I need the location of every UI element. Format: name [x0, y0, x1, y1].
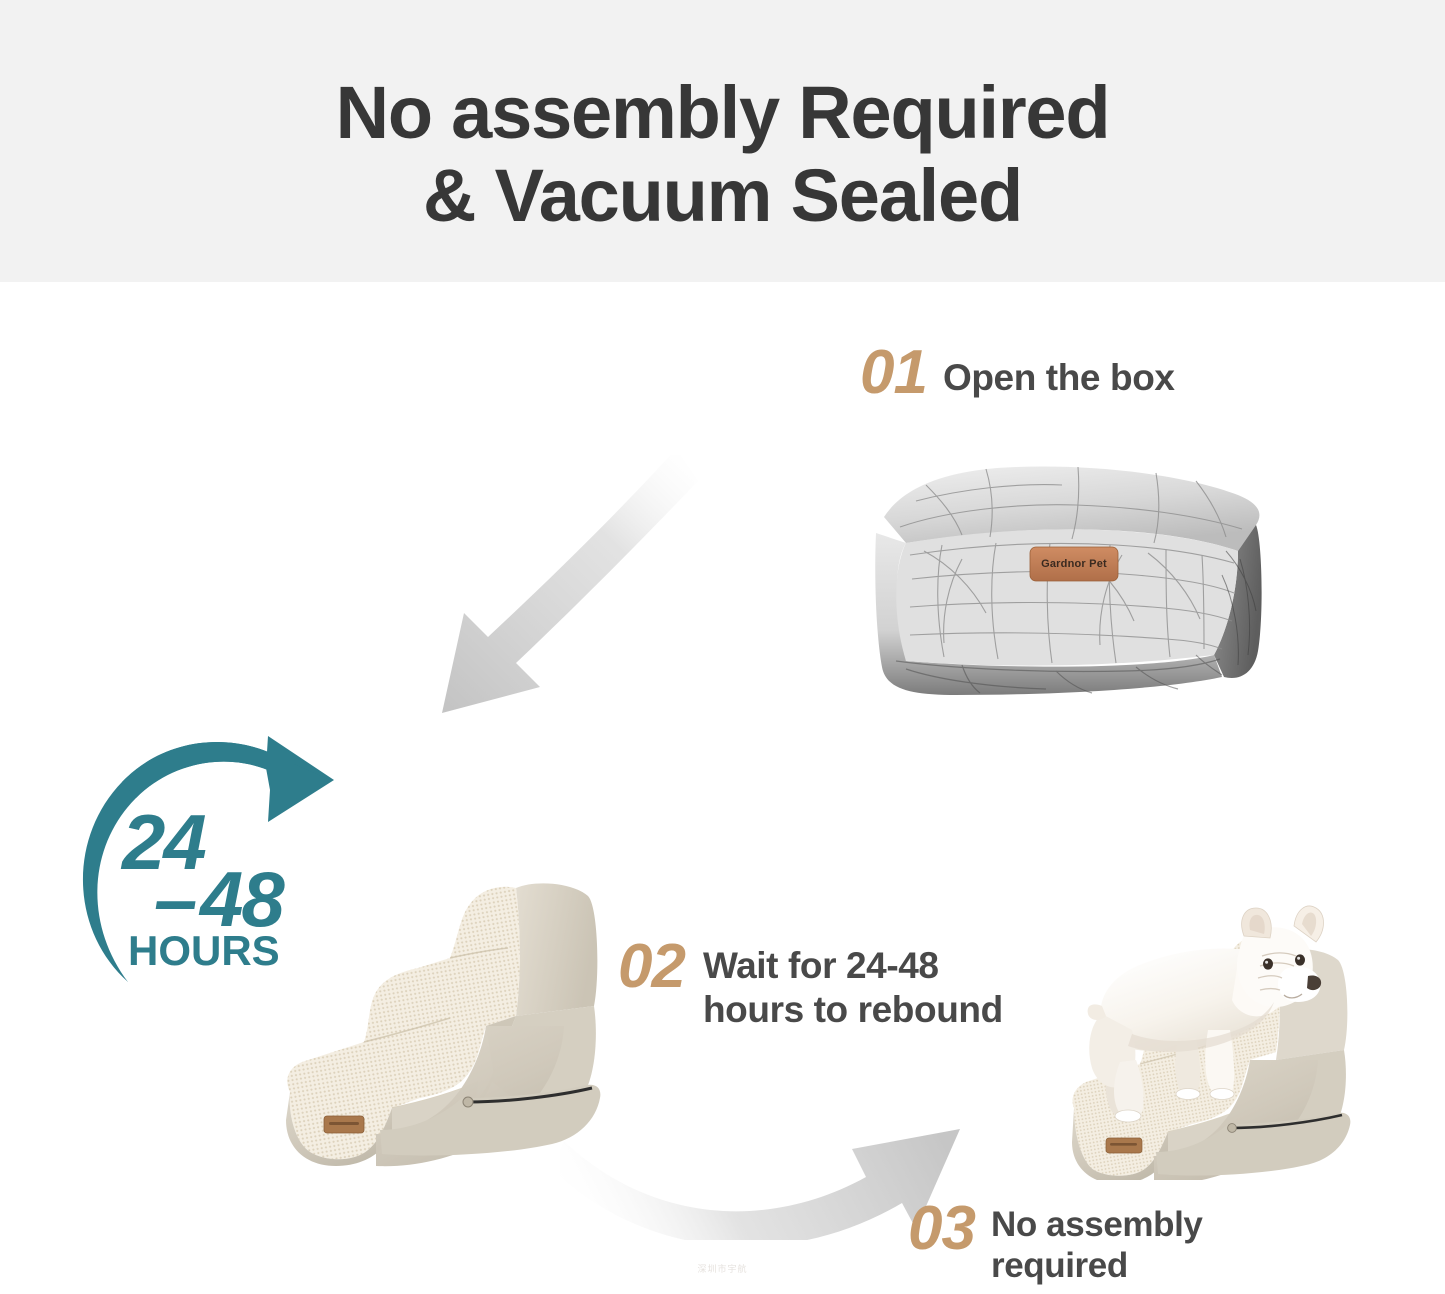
vacuum-sealed-package: Gardnor Pet [866, 455, 1276, 700]
dog-on-stairs-illustration [1062, 902, 1445, 1180]
pet-stairs-illustration [272, 866, 642, 1178]
watermark-text: 深圳市宇航 [0, 1262, 1445, 1275]
step-01-label: 01 Open the box [860, 342, 1175, 404]
package-brand-tag-text: Gardnor Pet [1034, 558, 1114, 570]
pet-stairs-expanded [272, 866, 642, 1178]
step-02-label: 02 Wait for 24-48 hours to rebound [618, 936, 1003, 1031]
product-brand-tag-small [1106, 1138, 1142, 1153]
step-01-number: 01 [860, 342, 927, 404]
product-brand-tag [324, 1116, 364, 1133]
badge-hours-unit: HOURS [128, 930, 280, 972]
connector-arrow-1 [390, 455, 700, 745]
step-01-text: Open the box [943, 342, 1175, 400]
step-02-number: 02 [618, 936, 685, 998]
page-title: No assembly Required & Vacuum Sealed [0, 72, 1445, 238]
step-03-number: 03 [908, 1198, 975, 1260]
step-02-text: Wait for 24-48 hours to rebound [703, 936, 1003, 1031]
package-illustration [866, 455, 1276, 700]
pet-stairs-with-dog [1062, 902, 1445, 1180]
infographic-page: No assembly Required & Vacuum Sealed 01 … [0, 0, 1445, 1294]
